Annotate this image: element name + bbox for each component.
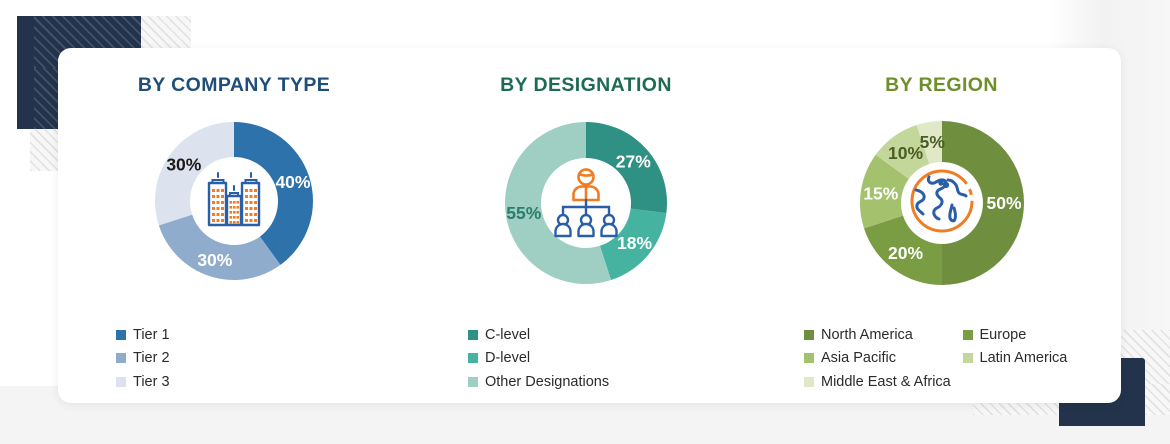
legend-swatch <box>804 353 814 363</box>
legend-item[interactable]: Tier 3 <box>116 375 410 390</box>
legend-item[interactable]: Asia Pacific <box>804 351 963 366</box>
legend-item[interactable]: Tier 2 <box>116 351 410 366</box>
legend-swatch <box>963 353 973 363</box>
ornament-solid-bar <box>17 16 34 129</box>
donut-segment-value: 30% <box>166 155 201 175</box>
legend-swatch <box>963 330 973 340</box>
panel-by-region: BY REGION 50%20%15%10%5% North AmericaEu… <box>762 48 1121 403</box>
donut-segment-value: 27% <box>616 151 651 171</box>
legend-label: Tier 3 <box>133 375 170 390</box>
panel-title-designation: BY DESIGNATION <box>410 74 762 97</box>
legend-item[interactable]: Other Designations <box>468 375 762 390</box>
legend-item[interactable]: North America <box>804 328 963 343</box>
legend-swatch <box>468 377 478 387</box>
panel-title-region: BY REGION <box>762 74 1121 97</box>
legend-label: Europe <box>980 328 1027 343</box>
infographic-card: BY COMPANY TYPE 40%30%30% <box>58 48 1121 403</box>
legend-label: North America <box>821 328 913 343</box>
donut-segment-value: 55% <box>506 203 541 223</box>
legend-swatch <box>116 330 126 340</box>
legend-item[interactable]: D-level <box>468 351 762 366</box>
donut-segment-value: 5% <box>919 132 945 152</box>
legend-item[interactable]: Tier 1 <box>116 328 410 343</box>
legend-item[interactable]: Latin America <box>963 351 1122 366</box>
legend-swatch <box>116 353 126 363</box>
donut-chart-designation: 27%18%55% <box>410 101 762 301</box>
donut-segment-value: 10% <box>888 143 923 163</box>
donut-segment-value: 50% <box>986 193 1021 213</box>
legend-label: Latin America <box>980 351 1068 366</box>
legend-swatch <box>804 330 814 340</box>
legend-region: North AmericaEuropeAsia PacificLatin Ame… <box>762 328 1121 390</box>
panel-title-company-type: BY COMPANY TYPE <box>58 74 410 97</box>
donut-chart-company-type: 40%30%30% <box>58 101 410 301</box>
legend-swatch <box>468 330 478 340</box>
legend-label: Asia Pacific <box>821 351 896 366</box>
hatch-block-bottom-far-right <box>1145 384 1170 415</box>
legend-designation: C-levelD-levelOther Designations <box>410 328 762 390</box>
legend-item[interactable]: Europe <box>963 328 1122 343</box>
donut-segment-value: 20% <box>888 243 923 263</box>
legend-item[interactable]: C-level <box>468 328 762 343</box>
donut-segment-value: 15% <box>863 183 898 203</box>
legend-swatch <box>116 377 126 387</box>
donut-segment-value: 18% <box>617 233 652 253</box>
panel-by-company-type: BY COMPANY TYPE 40%30%30% <box>58 48 410 403</box>
donut-segment-value: 30% <box>197 250 232 270</box>
legend-label: Tier 2 <box>133 351 170 366</box>
legend-label: C-level <box>485 328 530 343</box>
legend-label: Other Designations <box>485 375 609 390</box>
legend-swatch <box>468 353 478 363</box>
donut-chart-region: 50%20%15%10%5% <box>762 101 1121 301</box>
legend-swatch <box>804 377 814 387</box>
panel-by-designation: BY DESIGNATION 27%18%55% <box>410 48 762 403</box>
donut-segment-value: 40% <box>275 172 310 192</box>
legend-label: D-level <box>485 351 530 366</box>
legend-label: Middle East & Africa <box>821 375 951 390</box>
legend-company-type: Tier 1Tier 2Tier 3 <box>58 328 410 390</box>
legend-item[interactable]: Middle East & Africa <box>804 375 963 390</box>
legend-label: Tier 1 <box>133 328 170 343</box>
donut-segment[interactable] <box>159 215 281 280</box>
